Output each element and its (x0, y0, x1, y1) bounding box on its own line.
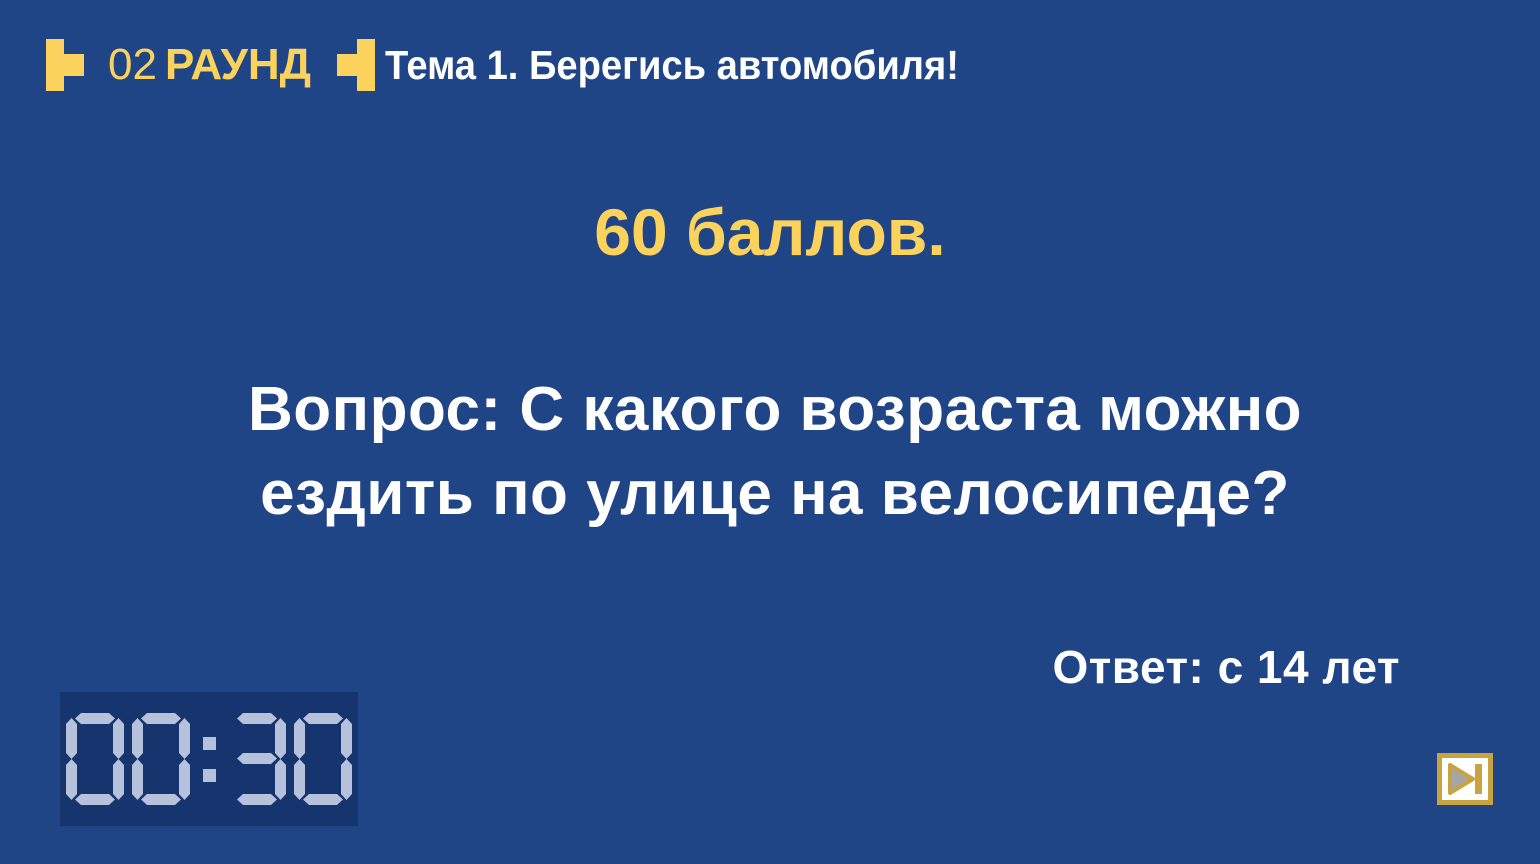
next-slide-button[interactable] (1437, 753, 1493, 805)
round-number: 02 (108, 40, 157, 89)
bracket-tab (64, 54, 84, 76)
lcd-display (62, 713, 356, 805)
skip-forward-icon (1446, 762, 1484, 796)
question-text: Вопрос: С какого возраста можно ездить п… (200, 368, 1350, 537)
answer-text: Ответ: с 14 лет (1052, 640, 1400, 695)
bracket-bar (46, 39, 64, 91)
theme-title: Тема 1. Берегись автомобиля! (385, 45, 959, 86)
bracket-left-icon (337, 39, 375, 91)
lcd-digit-minutes-ones (132, 713, 190, 805)
round-word: РАУНД (165, 40, 311, 89)
slide-root: 02РАУНД Тема 1. Берегись автомобиля! 60 … (0, 0, 1540, 864)
lcd-digit-seconds-ones (294, 713, 352, 805)
round-label: 02РАУНД (108, 43, 311, 87)
countdown-timer (60, 692, 358, 826)
slide-header: 02РАУНД Тема 1. Берегись автомобиля! (0, 30, 1540, 100)
bracket-right-icon (46, 39, 84, 91)
lcd-digit-seconds-tens (228, 713, 286, 805)
bracket-tab (337, 54, 357, 76)
points-value: 60 баллов. (0, 196, 1540, 269)
lcd-digit-minutes-tens (66, 713, 124, 805)
lcd-colon (196, 713, 222, 805)
bracket-bar (357, 39, 375, 91)
